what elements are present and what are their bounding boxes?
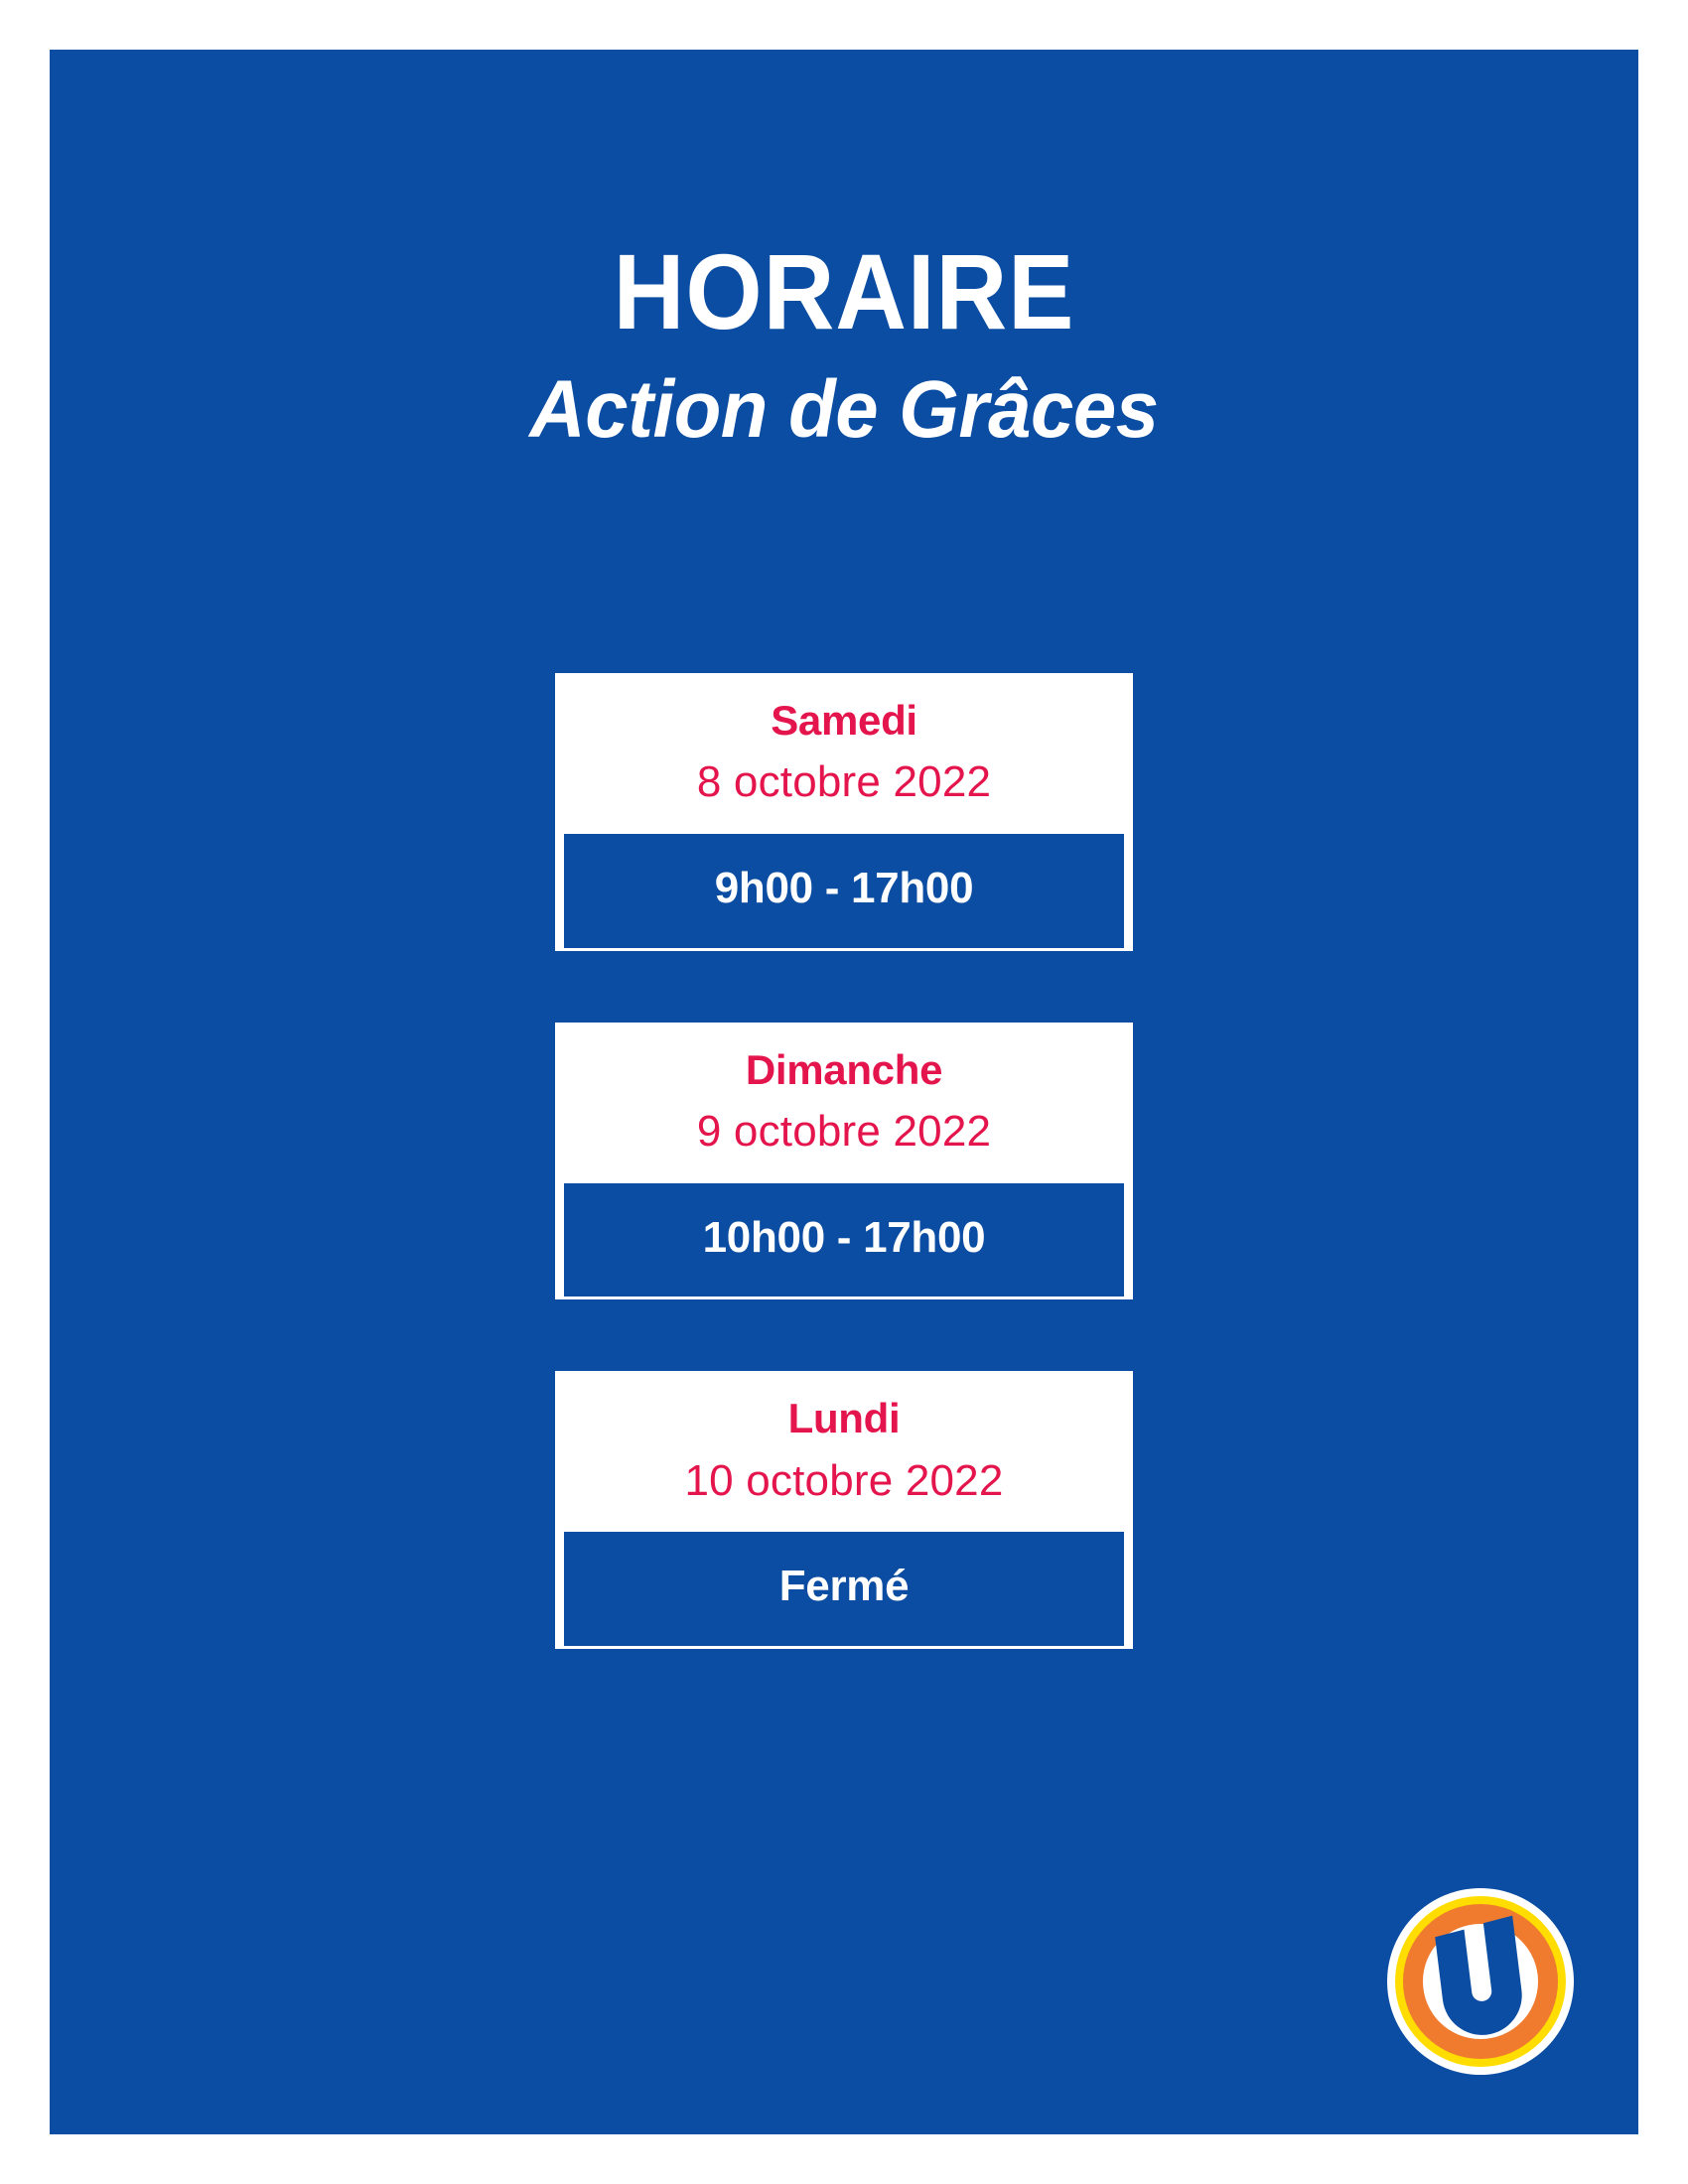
page-subtitle: Action de Grâces — [89, 367, 1599, 453]
schedule-date-label: 10 octobre 2022 — [565, 1455, 1123, 1508]
schedule-hours-label: 9h00 - 17h00 — [574, 864, 1114, 914]
schedule-card: Dimanche 9 octobre 2022 10h00 - 17h00 — [555, 1023, 1133, 1300]
schedule-hours-label: 10h00 - 17h00 — [574, 1213, 1114, 1264]
schedule-card-header: Samedi 8 octobre 2022 — [555, 673, 1133, 831]
poster-canvas: HORAIRE Action de Grâces Samedi 8 octobr… — [50, 50, 1638, 2134]
u-circle-logo-icon — [1385, 1886, 1576, 2077]
schedule-hours-panel: Fermé — [561, 1529, 1127, 1649]
poster-page: HORAIRE Action de Grâces Samedi 8 octobr… — [0, 0, 1688, 2184]
schedule-day-label: Dimanche — [565, 1046, 1123, 1094]
schedule-date-label: 8 octobre 2022 — [565, 756, 1123, 809]
schedule-day-label: Samedi — [565, 697, 1123, 745]
schedule-hours-label: Fermé — [574, 1562, 1114, 1612]
headline-block: HORAIRE Action de Grâces — [50, 238, 1638, 453]
schedule-card-header: Dimanche 9 octobre 2022 — [555, 1023, 1133, 1180]
schedule-card-list: Samedi 8 octobre 2022 9h00 - 17h00 Diman… — [50, 673, 1638, 1655]
schedule-card: Samedi 8 octobre 2022 9h00 - 17h00 — [555, 673, 1133, 951]
schedule-card-header: Lundi 10 octobre 2022 — [555, 1371, 1133, 1529]
page-title: HORAIRE — [113, 238, 1575, 345]
schedule-hours-panel: 9h00 - 17h00 — [561, 831, 1127, 951]
schedule-hours-panel: 10h00 - 17h00 — [561, 1180, 1127, 1300]
schedule-card: Lundi 10 octobre 2022 Fermé — [555, 1371, 1133, 1649]
schedule-day-label: Lundi — [565, 1395, 1123, 1442]
schedule-date-label: 9 octobre 2022 — [565, 1106, 1123, 1159]
